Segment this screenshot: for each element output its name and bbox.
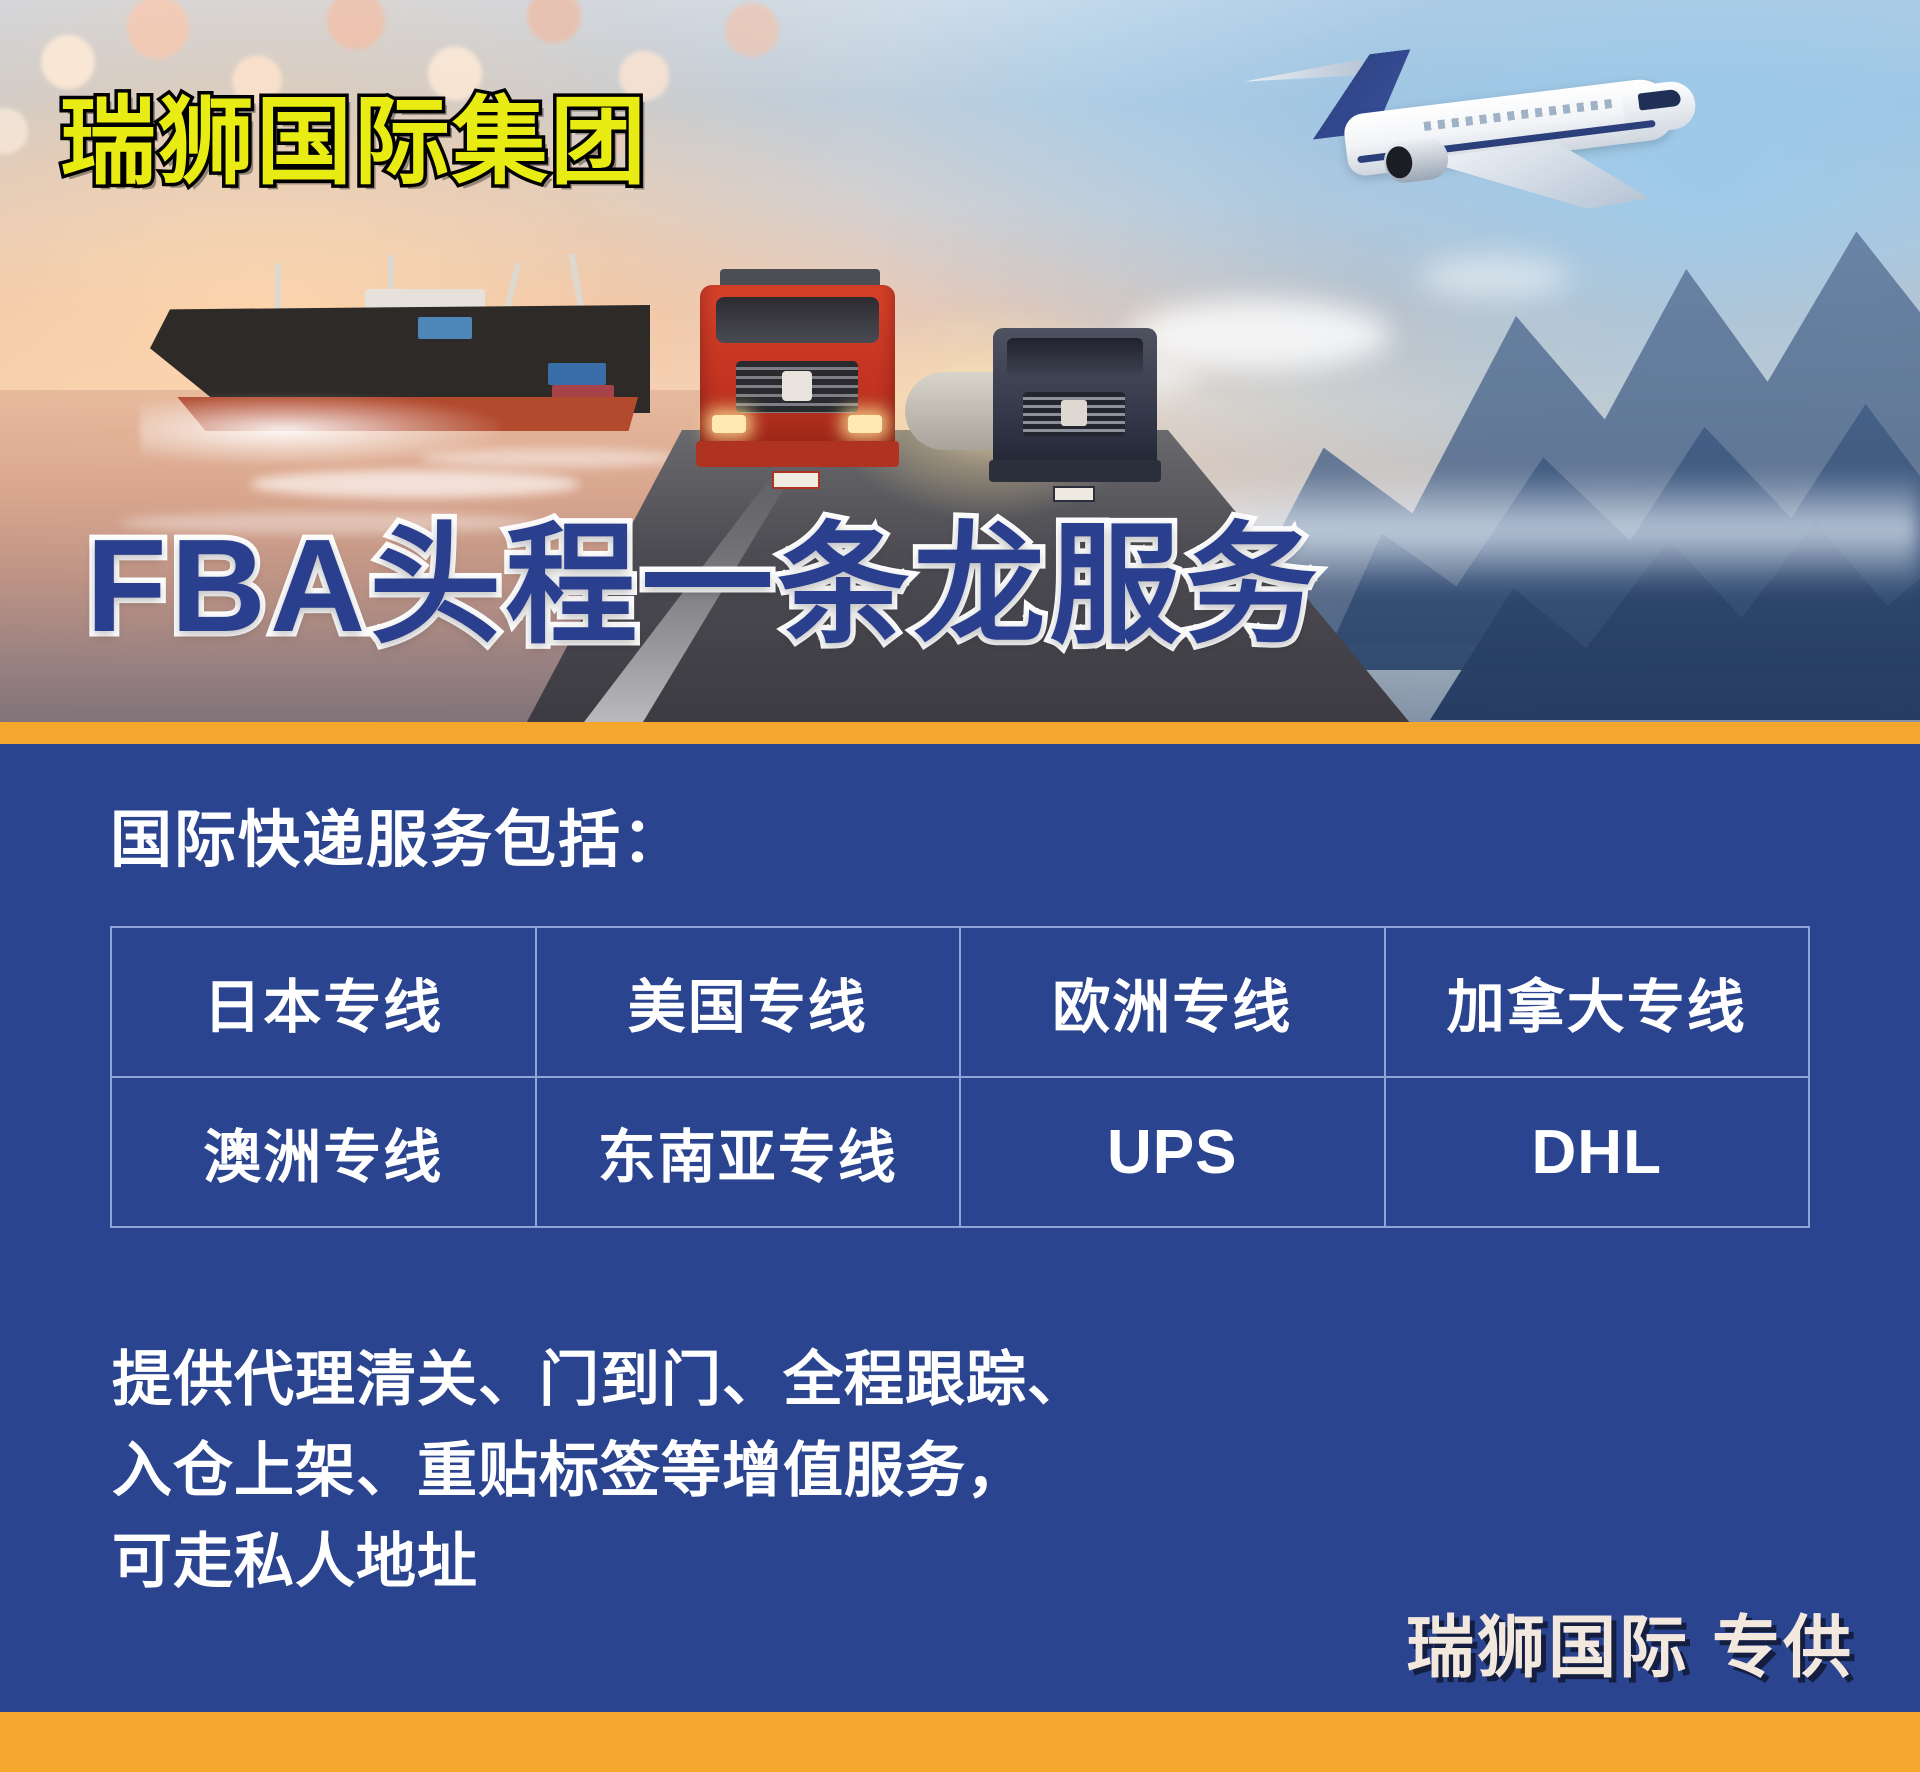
panel-heading: 国际快递服务包括： bbox=[110, 789, 686, 879]
wave-icon bbox=[250, 470, 580, 498]
top-accent-stripe bbox=[0, 722, 1920, 744]
service-cell-australia: 澳洲专线 bbox=[111, 1077, 536, 1227]
poster: 瑞狮国际集团 FBA头程一条龙服务 国际快递服务包括： 日本专线 美国专线 欧洲… bbox=[0, 0, 1920, 1772]
table-row: 日本专线 美国专线 欧洲专线 加拿大专线 bbox=[111, 927, 1809, 1077]
services-table: 日本专线 美国专线 欧洲专线 加拿大专线 澳洲专线 东南亚专线 UPS DHL bbox=[110, 926, 1810, 1228]
description-line-1: 提供代理清关、门到门、全程跟踪、 bbox=[112, 1334, 1088, 1425]
bottom-accent-stripe bbox=[0, 1712, 1920, 1772]
description-block: 提供代理清关、门到门、全程跟踪、 入仓上架、重贴标签等增值服务， 可走私人地址 bbox=[112, 1334, 1088, 1608]
service-cell-japan: 日本专线 bbox=[111, 927, 536, 1077]
cloud-icon bbox=[1420, 255, 1570, 299]
red-truck-icon bbox=[690, 275, 905, 505]
hero-image: 瑞狮国际集团 FBA头程一条龙服务 bbox=[0, 0, 1920, 735]
table-row: 澳洲专线 东南亚专线 UPS DHL bbox=[111, 1077, 1809, 1227]
description-line-3: 可走私人地址 bbox=[112, 1516, 1088, 1607]
dark-truck-icon bbox=[985, 320, 1165, 515]
service-cell-usa: 美国专线 bbox=[536, 927, 961, 1077]
description-line-2: 入仓上架、重贴标签等增值服务， bbox=[112, 1425, 1088, 1516]
service-cell-dhl: DHL bbox=[1385, 1077, 1810, 1227]
hero-headline: FBA头程一条龙服务 bbox=[86, 520, 1321, 652]
services-panel: 国际快递服务包括： 日本专线 美国专线 欧洲专线 加拿大专线 澳洲专线 东南亚专… bbox=[0, 744, 1920, 1712]
service-cell-ups: UPS bbox=[960, 1077, 1385, 1227]
water-spray bbox=[140, 395, 500, 465]
company-logo: 瑞狮国际集团 bbox=[60, 95, 648, 191]
cargo-ship-icon bbox=[150, 245, 670, 445]
service-cell-canada: 加拿大专线 bbox=[1385, 927, 1810, 1077]
service-cell-europe: 欧洲专线 bbox=[960, 927, 1385, 1077]
service-cell-southeast-asia: 东南亚专线 bbox=[536, 1077, 961, 1227]
footer-brand: 瑞狮国际 专供 bbox=[1406, 1592, 1854, 1691]
